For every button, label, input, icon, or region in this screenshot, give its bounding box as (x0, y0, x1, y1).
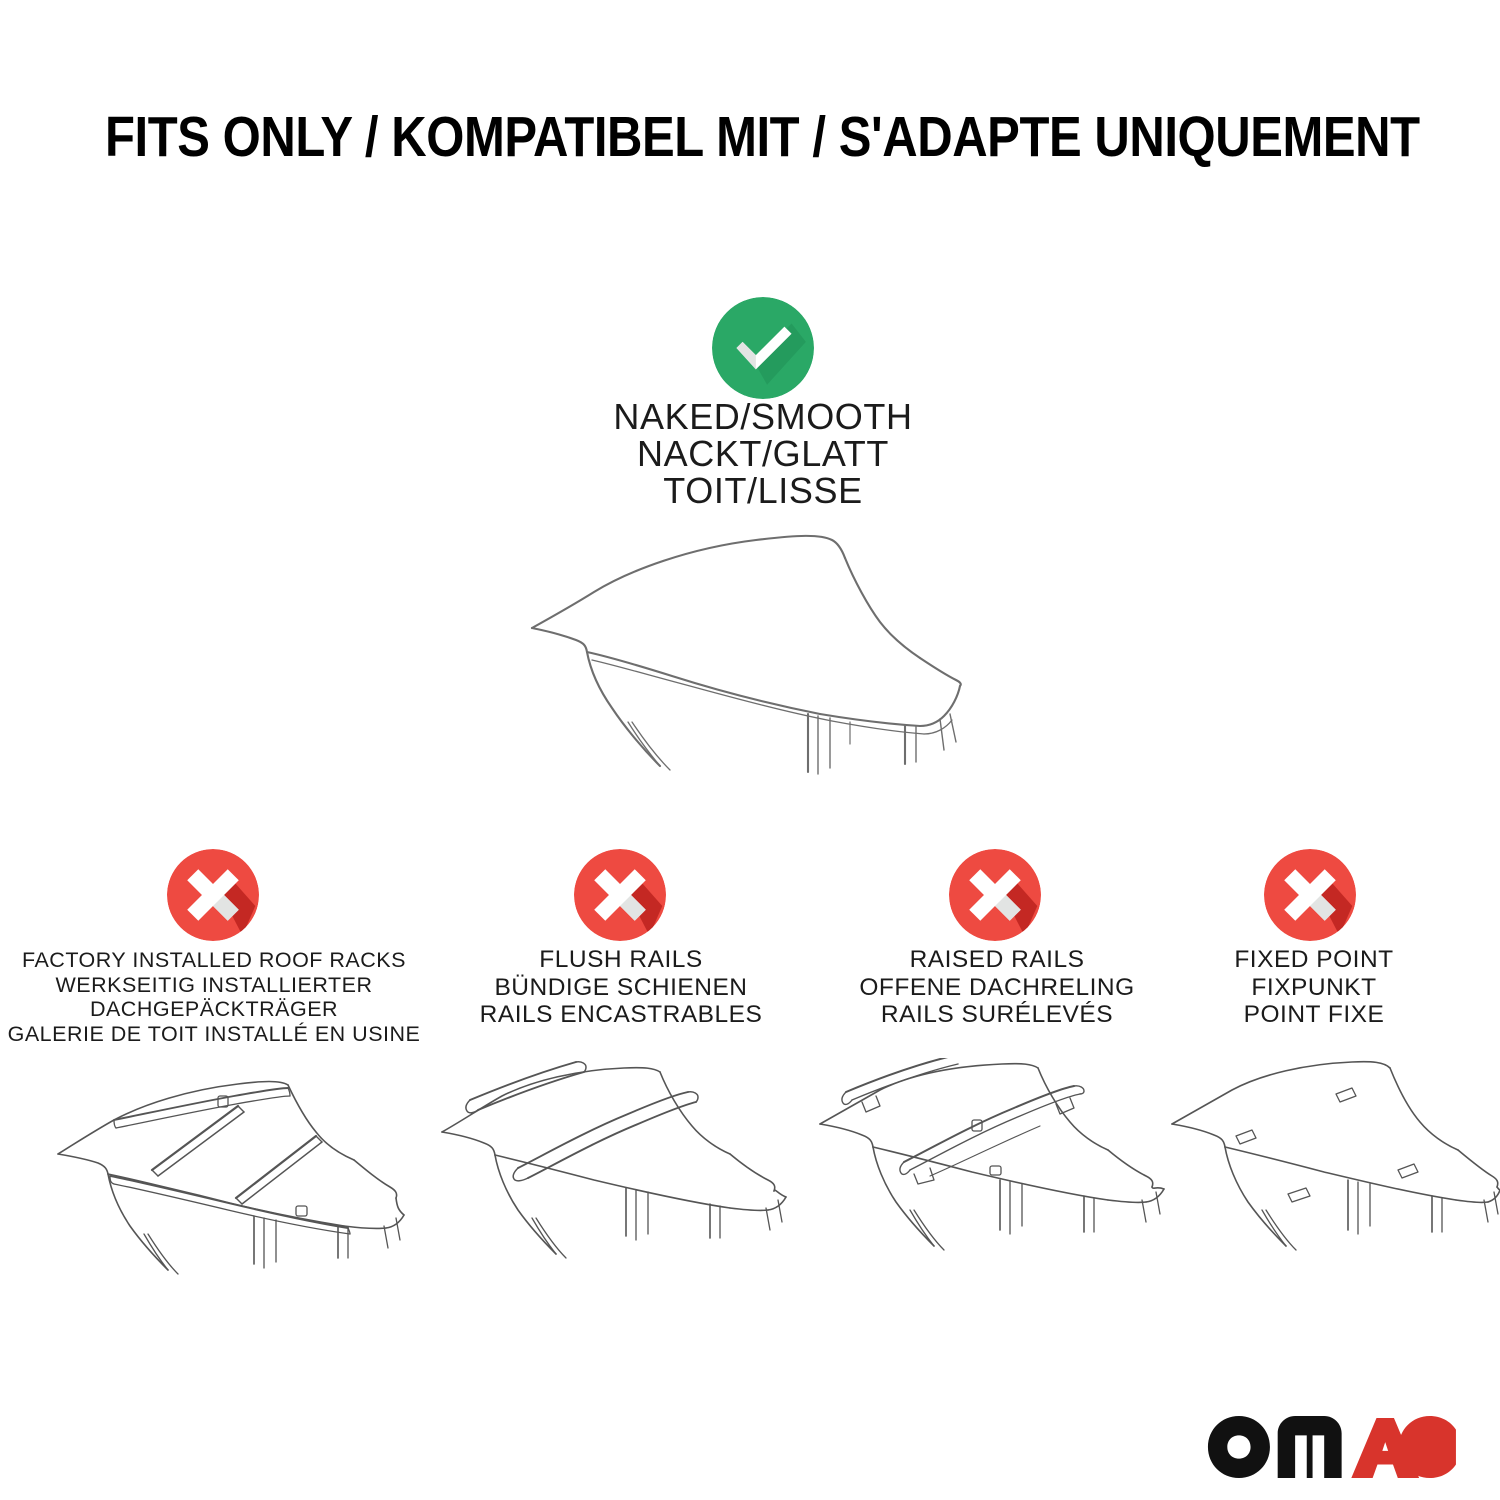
flush-rails-illustration (438, 1058, 822, 1288)
x-circle-icon (949, 849, 1041, 941)
caption-line: RAISED RAILS (812, 946, 1182, 974)
caption-line: WERKSEITIG INSTALLIERTER (0, 973, 428, 998)
fixed-point-illustration (1158, 1058, 1500, 1288)
fitment-infographic: FITS ONLY / KOMPATIBEL MIT / S'ADAPTE UN… (0, 0, 1500, 1500)
raised-rails-illustration (818, 1058, 1202, 1288)
caption-line: POINT FIXE (1174, 1001, 1454, 1029)
omac-logo: OMAC (1206, 1416, 1458, 1478)
caption-line: FIXED POINT (1174, 946, 1454, 974)
compatible-line-3: TOIT/LISSE (500, 472, 1026, 509)
caption-line: RAILS ENCASTRABLES (436, 1001, 806, 1029)
caption-line: FIXPUNKT (1174, 974, 1454, 1002)
incompatible-caption-raised-rails: RAISED RAILS OFFENE DACHRELING RAILS SUR… (812, 946, 1182, 1029)
page-title: FITS ONLY / KOMPATIBEL MIT / S'ADAPTE UN… (105, 104, 1395, 170)
incompatible-caption-fixed-point: FIXED POINT FIXPUNKT POINT FIXE (1174, 946, 1454, 1029)
incompatible-caption-factory-installed-roof-racks: FACTORY INSTALLED ROOF RACKS WERKSEITIG … (0, 948, 428, 1046)
caption-line: RAILS SURÉLEVÉS (812, 1001, 1182, 1029)
caption-line: GALERIE DE TOIT INSTALLÉ EN USINE (0, 1022, 428, 1047)
x-circle-icon (167, 849, 259, 941)
compatible-line-1: NAKED/SMOOTH (500, 398, 1026, 435)
caption-line: BÜNDIGE SCHIENEN (436, 974, 806, 1002)
compatible-line-2: NACKT/GLATT (500, 435, 1026, 472)
check-circle-icon (712, 297, 814, 399)
compatible-caption: NAKED/SMOOTH NACKT/GLATT TOIT/LISSE (500, 398, 1026, 509)
x-circle-icon (574, 849, 666, 941)
naked-smooth-roof-illustration (520, 518, 1010, 786)
caption-line: OFFENE DACHRELING (812, 974, 1182, 1002)
caption-line: FACTORY INSTALLED ROOF RACKS (0, 948, 428, 973)
caption-line: FLUSH RAILS (436, 946, 806, 974)
factory-roof-rack-illustration (48, 1058, 452, 1288)
caption-line: DACHGEPÄCKTRÄGER (0, 997, 428, 1022)
x-circle-icon (1264, 849, 1356, 941)
incompatible-caption-flush-rails: FLUSH RAILS BÜNDIGE SCHIENEN RAILS ENCAS… (436, 946, 806, 1029)
